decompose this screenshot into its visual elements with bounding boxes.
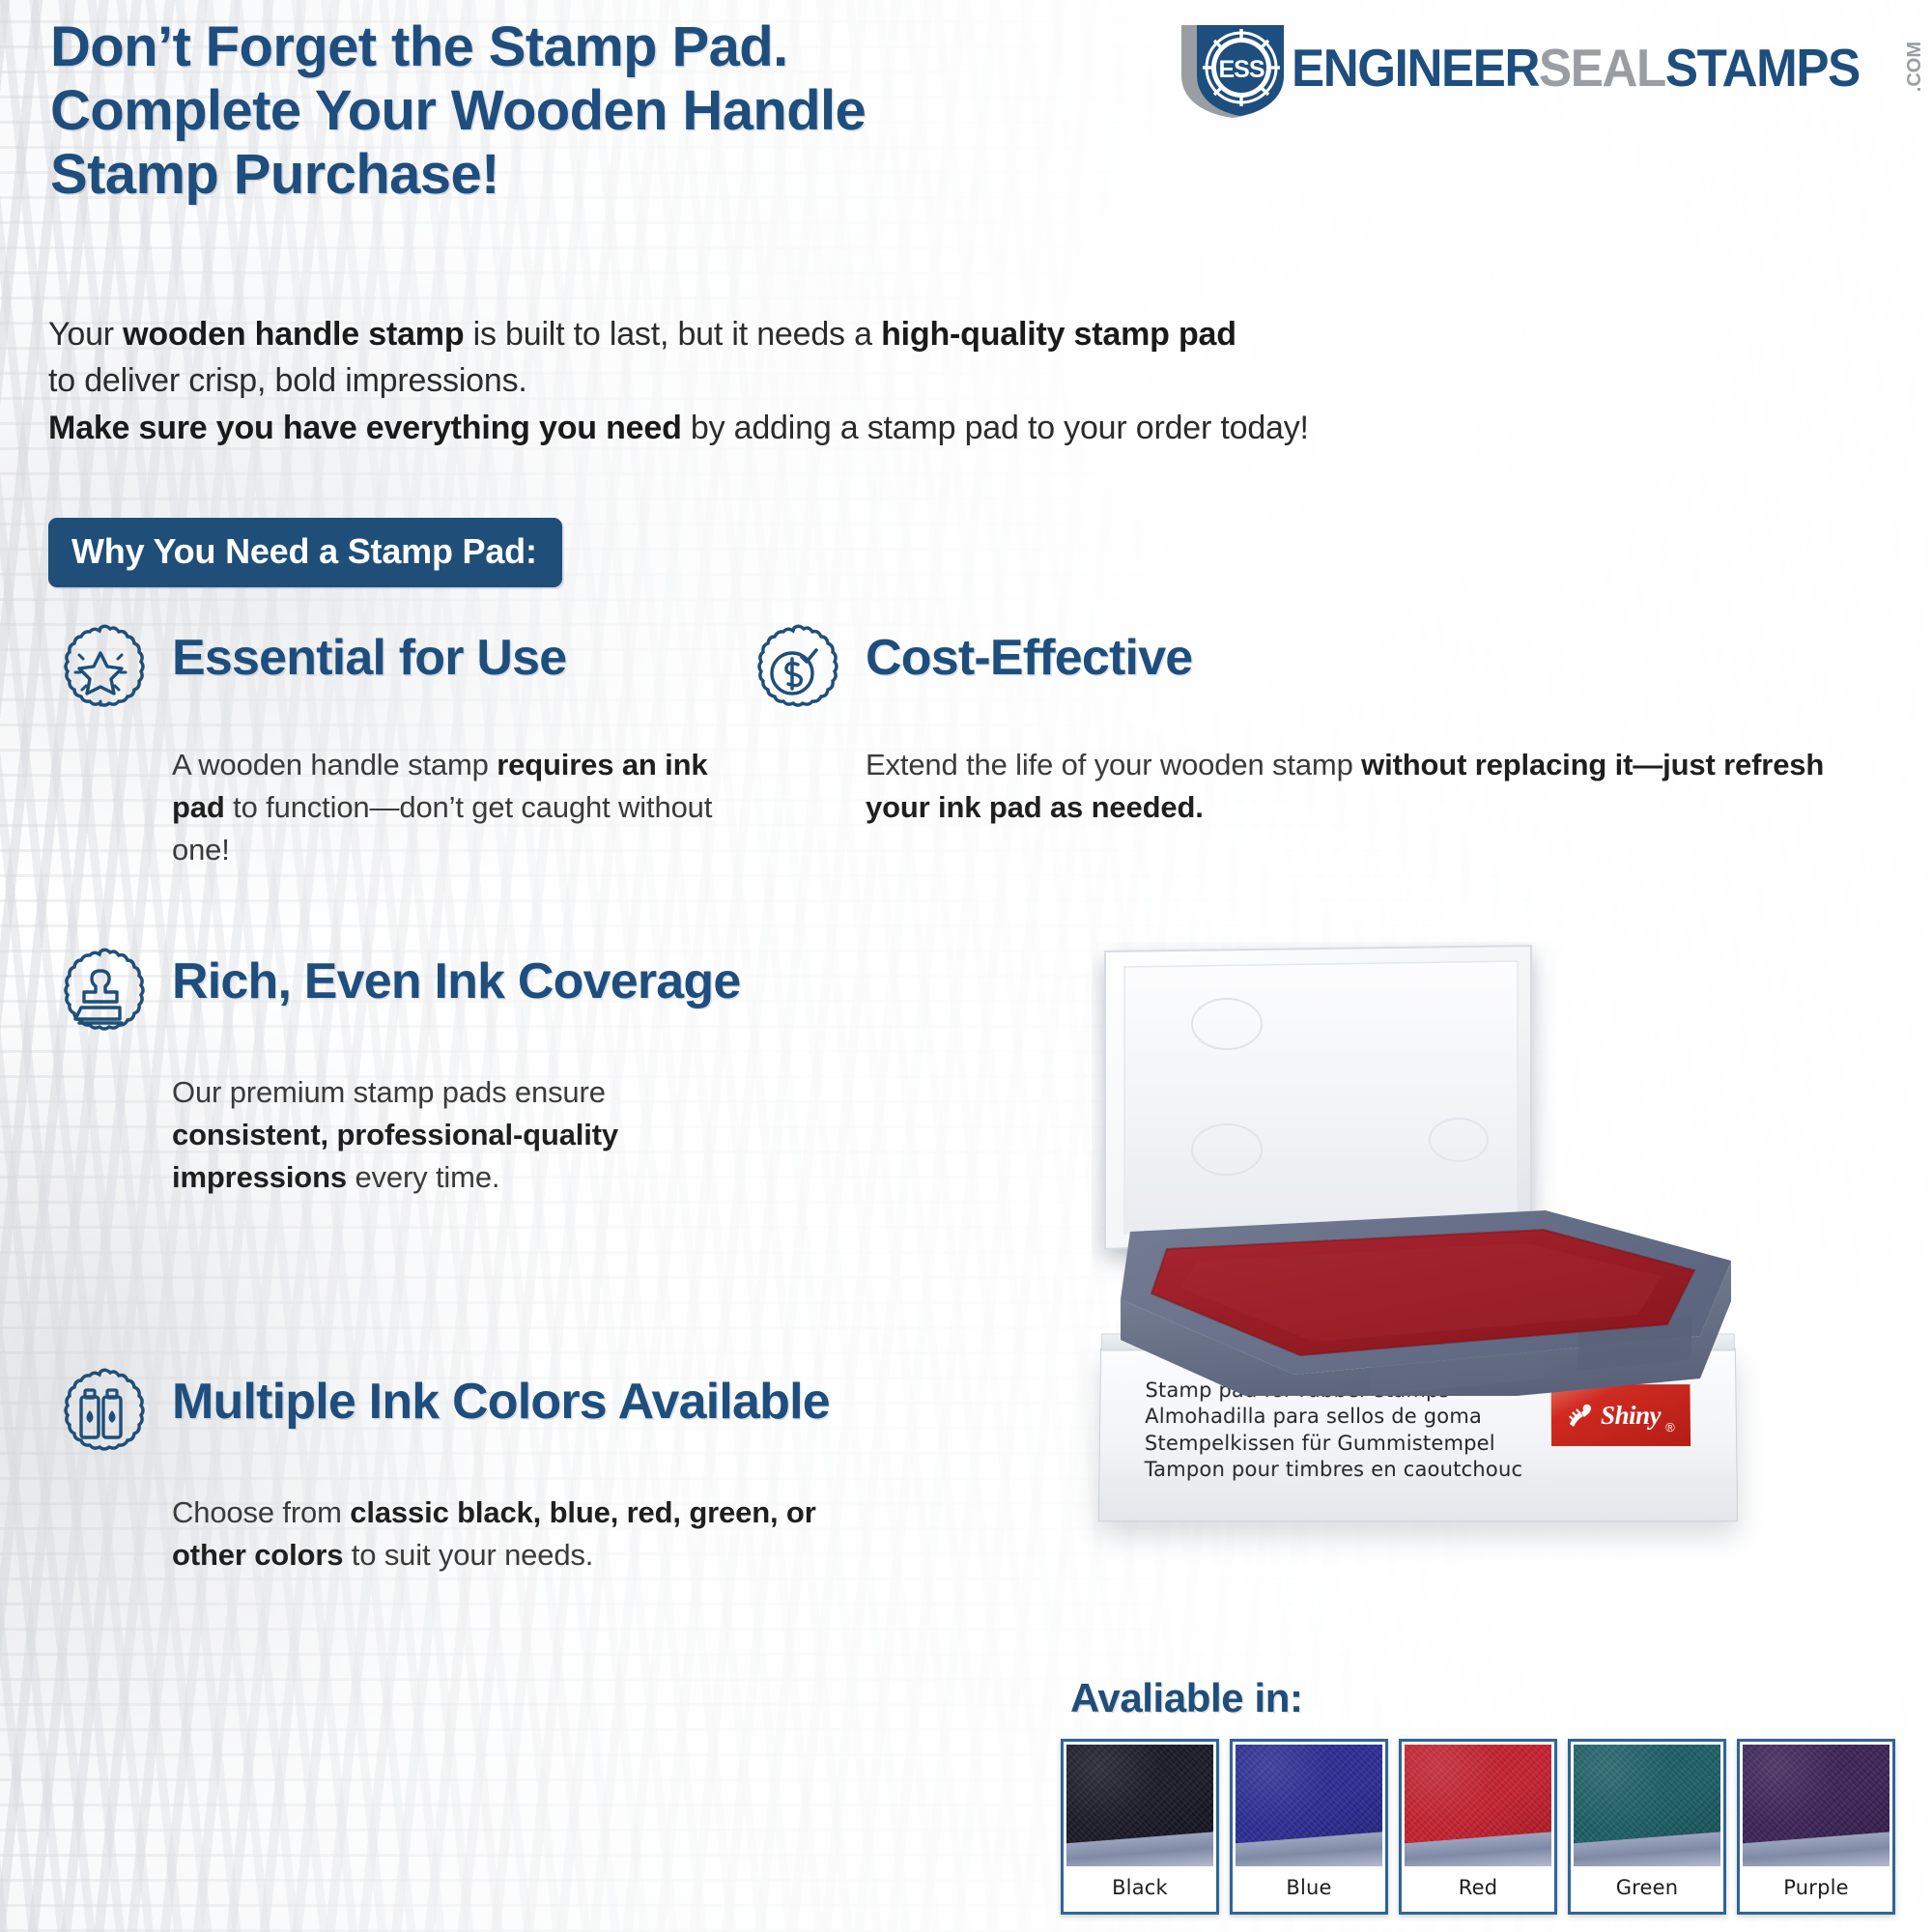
feature-title: Multiple Ink Colors Available bbox=[172, 1372, 830, 1429]
why-banner: Why You Need a Stamp Pad: bbox=[48, 518, 562, 587]
headline-line-1: Don’t Forget the Stamp Pad. bbox=[50, 15, 1209, 79]
swatch-label: Green bbox=[1574, 1866, 1720, 1909]
headline-line-3: Stamp Purchase! bbox=[50, 143, 1209, 207]
feature-body-part-2: every time. bbox=[347, 1160, 499, 1194]
intro-bold-3: Make sure you have everything you need bbox=[48, 410, 682, 446]
ink-bottles-badge-icon bbox=[50, 1366, 151, 1466]
feature-title: Cost-Effective bbox=[866, 628, 1192, 685]
shiny-wheat-icon bbox=[1567, 1401, 1596, 1430]
swatch-color-sample bbox=[1066, 1745, 1213, 1866]
logo-word-seal: SEAL bbox=[1539, 42, 1665, 95]
logo-word-stamps: STAMPS bbox=[1665, 42, 1860, 95]
feature-rich-even-ink-coverage: Rich, Even Ink Coverage Our premium stam… bbox=[50, 952, 804, 1199]
ess-gear-shield-icon: ESS bbox=[1178, 17, 1292, 118]
shiny-registered-mark: ® bbox=[1665, 1420, 1675, 1435]
swatch-green[interactable]: Green bbox=[1568, 1739, 1726, 1915]
swatch-color-sample bbox=[1574, 1745, 1720, 1866]
star-badge-icon bbox=[50, 622, 151, 723]
feature-body-part-2: to function—don’t get caught without one… bbox=[172, 790, 712, 867]
swatch-color-sample bbox=[1743, 1745, 1889, 1866]
svg-text:ESS: ESS bbox=[1218, 56, 1264, 83]
intro-text-3: to deliver crisp, bold impressions. bbox=[48, 362, 527, 399]
feature-body-part-1: A wooden handle stamp bbox=[172, 748, 497, 781]
dollar-check-badge-icon bbox=[744, 622, 844, 723]
swatch-label: Blue bbox=[1236, 1866, 1382, 1909]
page-title: Don’t Forget the Stamp Pad. Complete You… bbox=[50, 15, 1209, 207]
rubber-stamp-badge-icon bbox=[50, 946, 151, 1046]
swatch-color-sample bbox=[1405, 1745, 1551, 1866]
intro-text-2: is built to last, but it needs a bbox=[464, 316, 881, 353]
brand-logo: ESS ENGINEERSEALSTAMPS .COM bbox=[1178, 17, 1924, 118]
shiny-brand-text: Shiny bbox=[1601, 1401, 1661, 1431]
feature-body: Our premium stamp pads ensure consistent… bbox=[172, 1071, 752, 1199]
logo-word-engineer: ENGINEER bbox=[1292, 42, 1539, 95]
swatch-blue[interactable]: Blue bbox=[1230, 1739, 1388, 1915]
swatch-label: Purple bbox=[1743, 1866, 1889, 1909]
stamp-pad-case bbox=[1092, 942, 1768, 1396]
feature-title: Essential for Use bbox=[172, 628, 566, 685]
swatch-black[interactable]: Black bbox=[1061, 1739, 1219, 1915]
feature-body: Extend the life of your wooden stamp wit… bbox=[866, 744, 1851, 829]
box-line-es: Almohadilla para sellos de goma bbox=[1145, 1404, 1522, 1430]
intro-text-4: by adding a stamp pad to your order toda… bbox=[682, 410, 1309, 446]
pad-lid bbox=[1105, 946, 1531, 1249]
product-photo: Stamp pad for rubber stamps Almohadilla … bbox=[1092, 942, 1768, 1560]
feature-body: A wooden handle stamp requires an ink pa… bbox=[172, 744, 761, 871]
feature-body-part-2: to suit your needs. bbox=[343, 1538, 593, 1572]
intro-paragraph: Your wooden handle stamp is built to las… bbox=[48, 311, 1768, 451]
box-line-de: Stempelkissen für Gummistempel bbox=[1145, 1431, 1522, 1457]
logo-tld: .COM bbox=[1905, 42, 1924, 92]
feature-body-part-1: Our premium stamp pads ensure bbox=[172, 1075, 606, 1109]
swatch-red[interactable]: Red bbox=[1399, 1739, 1557, 1915]
feature-body: Choose from classic black, blue, red, gr… bbox=[172, 1492, 848, 1577]
swatch-purple[interactable]: Purple bbox=[1737, 1739, 1895, 1915]
swatch-color-sample bbox=[1236, 1745, 1382, 1866]
available-in-title: Avaliable in: bbox=[1070, 1675, 1303, 1721]
feature-cost-effective: Cost-Effective Extend the life of your w… bbox=[744, 628, 1884, 829]
feature-multiple-ink-colors: Multiple Ink Colors Available Choose fro… bbox=[50, 1372, 852, 1577]
feature-title: Rich, Even Ink Coverage bbox=[172, 952, 741, 1009]
color-swatch-list: Black Blue Red Green Purple bbox=[1061, 1739, 1895, 1915]
swatch-label: Red bbox=[1405, 1866, 1551, 1909]
infographic-page: Don’t Forget the Stamp Pad. Complete You… bbox=[0, 0, 1932, 1932]
box-line-fr: Tampon pour timbres en caoutchouc bbox=[1144, 1457, 1522, 1483]
logo-wordmark: ENGINEERSEALSTAMPS bbox=[1292, 42, 1860, 95]
headline-line-2: Complete Your Wooden Handle bbox=[50, 79, 1209, 143]
feature-body-part-1: Extend the life of your wooden stamp bbox=[866, 748, 1361, 781]
feature-essential-for-use: Essential for Use A wooden handle stamp … bbox=[50, 628, 765, 871]
intro-text-1: Your bbox=[48, 316, 123, 353]
intro-bold-1: wooden handle stamp bbox=[123, 316, 464, 353]
intro-bold-2: high-quality stamp pad bbox=[881, 316, 1236, 353]
swatch-label: Black bbox=[1066, 1866, 1213, 1909]
feature-body-part-1: Choose from bbox=[172, 1495, 350, 1529]
